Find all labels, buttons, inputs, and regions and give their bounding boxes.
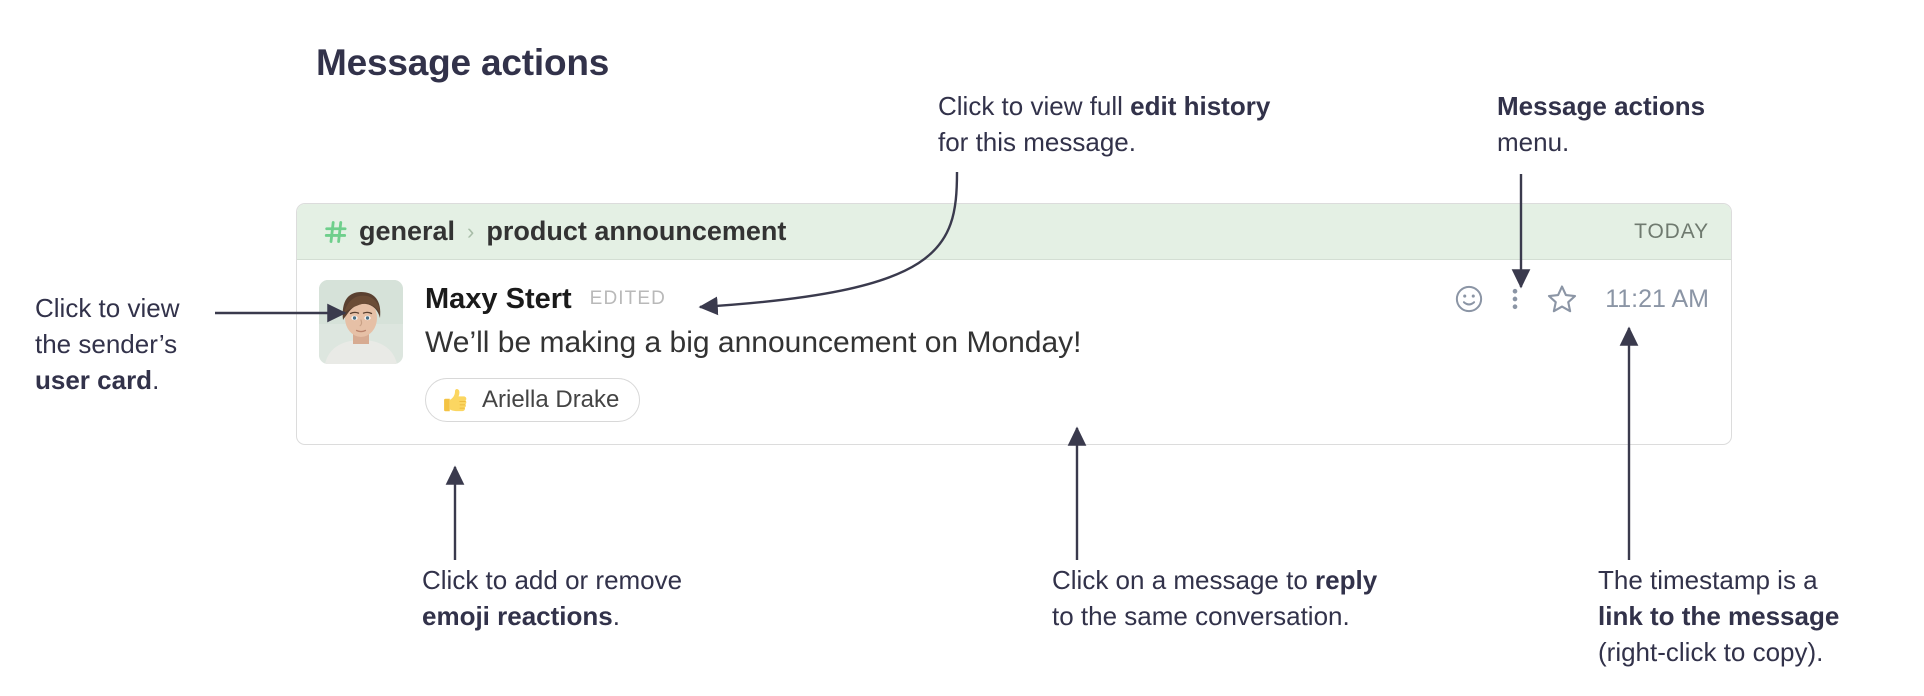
stream-name[interactable]: general (359, 216, 455, 247)
avatar[interactable] (319, 280, 403, 364)
annotation-emoji-reactions-line2-bold: emoji reactions (422, 601, 613, 631)
annotation-actions-menu-line2: menu. (1497, 124, 1705, 160)
annotation-emoji-reactions: Click to add or remove emoji reactions. (422, 562, 682, 634)
annotation-user-card-line1: Click to view (35, 290, 179, 326)
message-card[interactable]: general › product announcement TODAY (296, 203, 1732, 445)
header-date-label: TODAY (1634, 220, 1709, 244)
annotation-reply-line2: to the same conversation. (1052, 598, 1377, 634)
reactions-row: Ariella Drake (425, 378, 1709, 422)
message-timestamp[interactable]: 11:21 AM (1605, 285, 1709, 314)
message-main: Maxy Stert EDITED (425, 280, 1709, 422)
annotation-edit-history-line1-bold: edit history (1130, 91, 1270, 121)
reaction-pill[interactable]: Ariella Drake (425, 378, 640, 422)
annotation-edit-history-line2: for this message. (938, 124, 1270, 160)
annotation-timestamp-line1: The timestamp is a (1598, 562, 1839, 598)
annotation-timestamp-line2-bold: link to the message (1598, 601, 1839, 631)
annotation-edit-history: Click to view full edit history for this… (938, 88, 1270, 160)
annotation-user-card-line3-bold: user card (35, 365, 152, 395)
annotation-user-card: Click to view the sender’s user card. (35, 290, 179, 398)
annotation-user-card-line3-tail: . (152, 365, 159, 395)
annotation-reply: Click on a message to reply to the same … (1052, 562, 1377, 634)
breadcrumb-chevron-icon: › (467, 221, 474, 243)
page-title: Message actions (316, 42, 609, 84)
hash-icon (323, 219, 349, 245)
annotation-actions-menu-line1-bold: Message actions (1497, 91, 1705, 121)
message-actions-menu-icon[interactable] (1507, 283, 1523, 315)
illustration-canvas: Message actions Click to view full edit … (0, 0, 1924, 696)
annotation-reply-line1-plain: Click on a message to (1052, 565, 1315, 595)
message-headline: Maxy Stert EDITED (425, 280, 1709, 318)
thumbs-up-icon (440, 385, 470, 415)
emoji-reaction-icon[interactable] (1453, 283, 1485, 315)
annotation-reply-line1-bold: reply (1315, 565, 1377, 595)
message-controls: 11:21 AM (1453, 282, 1709, 316)
star-icon[interactable] (1545, 282, 1579, 316)
stream-topic-header: general › product announcement TODAY (297, 204, 1731, 260)
message-row[interactable]: Maxy Stert EDITED (297, 260, 1731, 444)
annotation-user-card-line2: the sender’s (35, 326, 179, 362)
topic-name[interactable]: product announcement (486, 216, 786, 247)
annotation-timestamp-line3: (right-click to copy). (1598, 634, 1839, 670)
annotation-emoji-reactions-line2-tail: . (613, 601, 620, 631)
message-body-text[interactable]: We’ll be making a big announcement on Mo… (425, 326, 1709, 360)
annotation-edit-history-line1-plain: Click to view full (938, 91, 1130, 121)
edited-badge[interactable]: EDITED (590, 288, 666, 310)
annotation-actions-menu: Message actions menu. (1497, 88, 1705, 160)
annotation-emoji-reactions-line1: Click to add or remove (422, 562, 682, 598)
sender-name[interactable]: Maxy Stert (425, 283, 572, 316)
annotation-timestamp: The timestamp is a link to the message (… (1598, 562, 1839, 670)
reaction-label: Ariella Drake (482, 386, 619, 414)
